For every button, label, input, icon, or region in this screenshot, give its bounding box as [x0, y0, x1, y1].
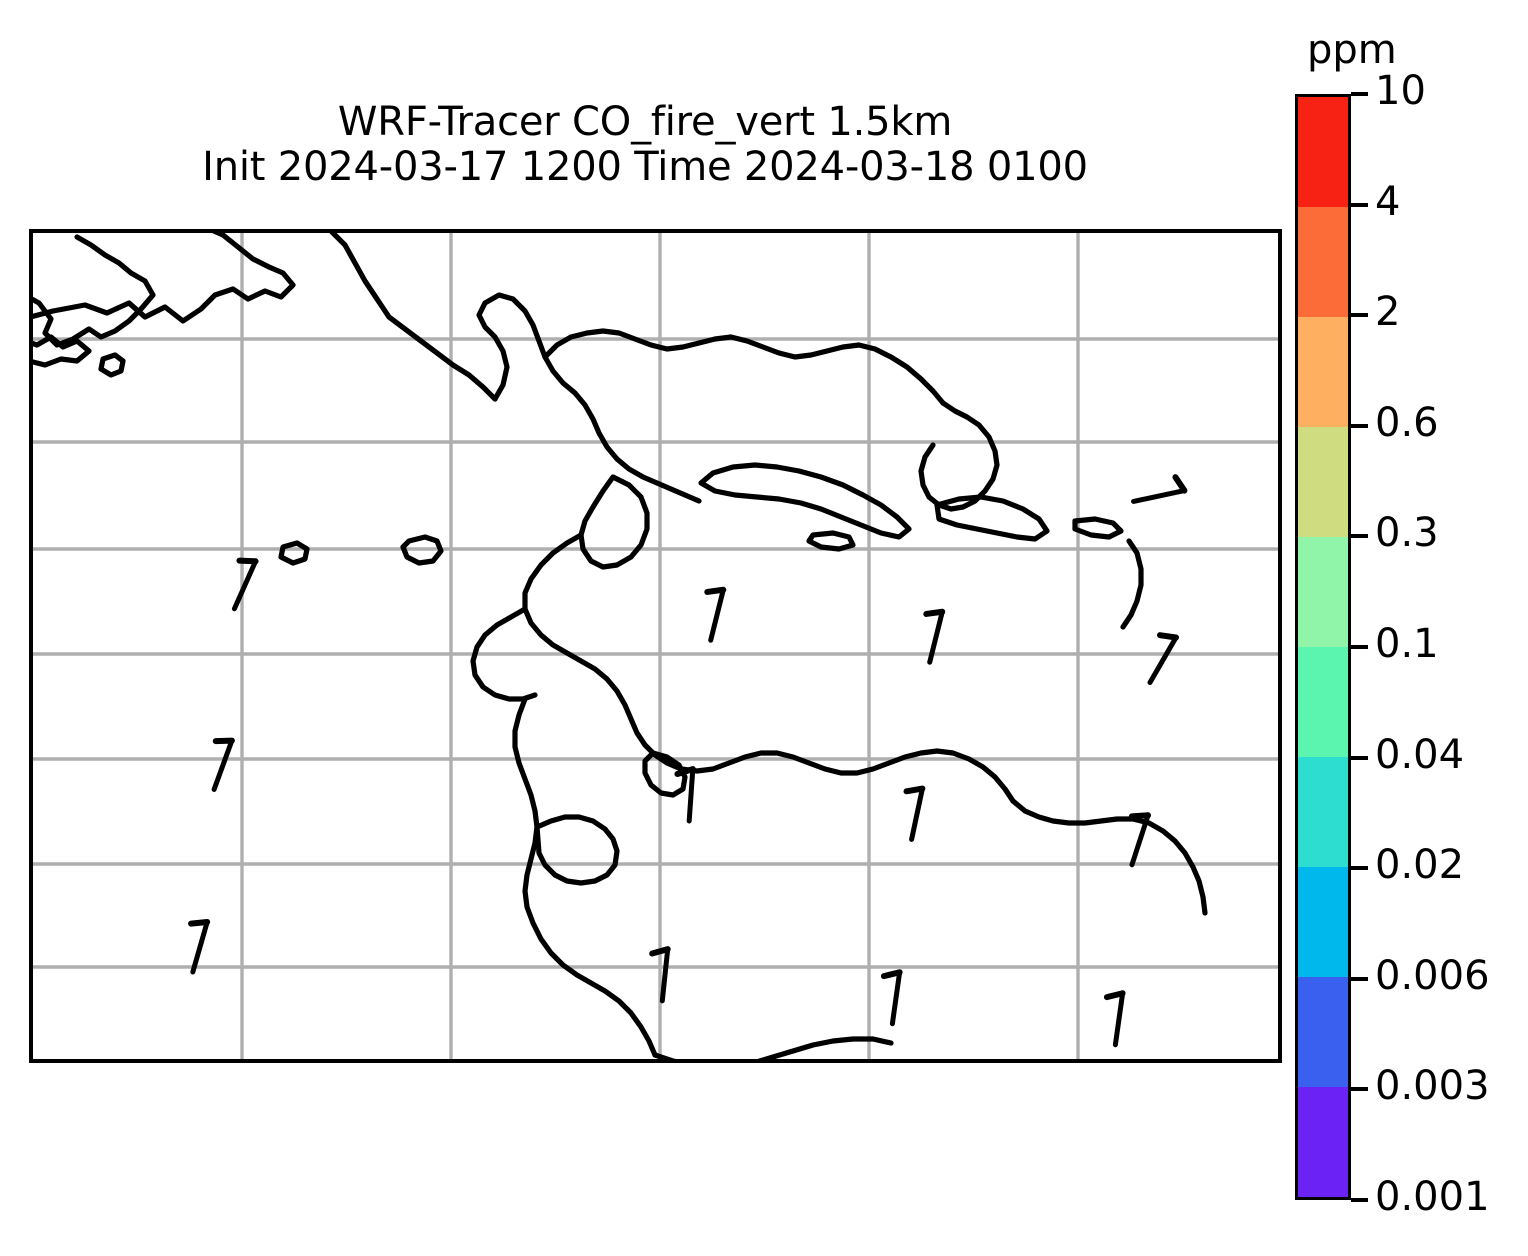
wind-barb	[221, 555, 256, 609]
colorbar-band	[1298, 537, 1348, 647]
colorbar-band	[1298, 977, 1348, 1087]
colorbar-tick-label: 4	[1375, 182, 1400, 222]
wind-barb	[200, 735, 232, 789]
chart-title: WRF-Tracer CO_fire_vert 1.5km Init 2024-…	[0, 100, 1290, 190]
wind-barb	[674, 768, 693, 821]
colorbar-tick-mark	[1351, 1198, 1368, 1202]
colorbar-tick-label: 0.3	[1375, 513, 1439, 553]
wind-barb	[647, 948, 667, 1001]
colorbar-tick-mark	[1351, 866, 1368, 870]
colorbar-tick-label: 0.003	[1375, 1066, 1490, 1106]
colorbar-tick-mark	[1351, 645, 1368, 649]
colorbar-tick-axis: 10420.60.30.10.040.020.0060.0030.001	[1351, 94, 1528, 1200]
map-panel[interactable]	[29, 229, 1282, 1063]
wind-barb	[915, 608, 942, 662]
colorbar-band	[1298, 1087, 1348, 1197]
colorbar-tick-label: 0.1	[1375, 624, 1439, 664]
colorbar-tick-mark	[1351, 977, 1368, 981]
wind-barb	[878, 970, 900, 1024]
wind-barb	[696, 586, 723, 640]
colorbar-band	[1298, 757, 1348, 867]
colorbar-tick-label: 2	[1375, 292, 1400, 332]
colorbar-tick-label: 0.6	[1375, 403, 1439, 443]
colorbar[interactable]	[1295, 94, 1351, 1200]
colorbar-band	[1298, 207, 1348, 317]
colorbar-tick-mark	[1351, 756, 1368, 760]
wind-barb	[1130, 476, 1184, 501]
colorbar-band	[1298, 97, 1348, 207]
wind-barb-overlay	[33, 233, 1278, 1059]
colorbar-tick-label: 0.001	[1375, 1177, 1490, 1217]
title-line-variable: WRF-Tracer CO_fire_vert 1.5km	[0, 100, 1290, 145]
colorbar-tick-mark	[1351, 424, 1368, 428]
wind-barb	[897, 785, 922, 839]
colorbar-tick-mark	[1351, 1087, 1368, 1091]
wind-barb	[178, 918, 207, 972]
wind-barb	[1118, 811, 1148, 865]
colorbar-band	[1298, 427, 1348, 537]
colorbar-tick-label: 0.006	[1375, 956, 1490, 996]
colorbar-tick-mark	[1351, 203, 1368, 207]
colorbar-tick-mark	[1351, 313, 1368, 317]
colorbar-tick-mark	[1351, 534, 1368, 538]
colorbar-unit-label: ppm	[1307, 30, 1397, 70]
title-line-time: Init 2024-03-17 1200 Time 2024-03-18 010…	[0, 145, 1290, 190]
colorbar-band	[1298, 867, 1348, 977]
colorbar-tick-label: 0.04	[1375, 735, 1464, 775]
colorbar-tick-mark	[1351, 92, 1368, 96]
wind-barb	[1137, 630, 1176, 683]
colorbar-band	[1298, 317, 1348, 427]
wind-barb	[1101, 991, 1123, 1045]
colorbar-tick-label: 10	[1375, 71, 1426, 111]
colorbar-band	[1298, 647, 1348, 757]
colorbar-tick-label: 0.02	[1375, 845, 1464, 885]
map-canvas	[33, 233, 1278, 1059]
